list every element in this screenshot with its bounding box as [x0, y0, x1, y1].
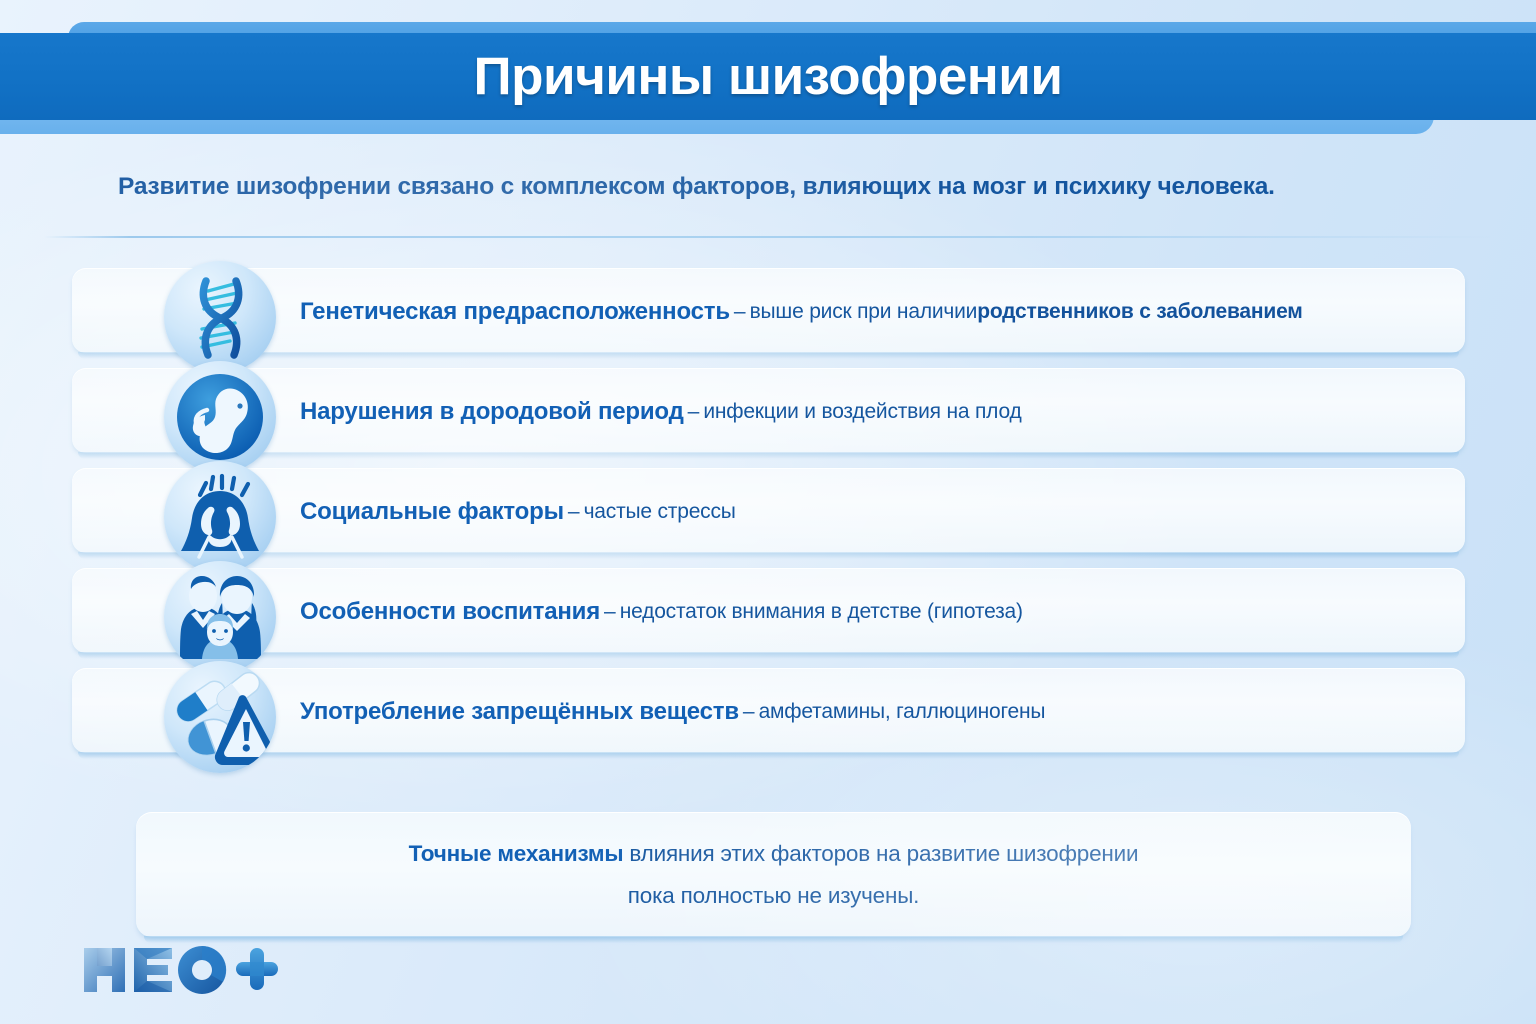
dna-helix-icon	[164, 261, 276, 373]
neo-plus-logo[interactable]	[80, 940, 280, 1000]
factor-description: недостаток внимания в детстве (гипотеза)	[620, 600, 1023, 624]
factor-dash: –	[600, 600, 620, 624]
conclusion-bold: Точные механизмы	[409, 841, 624, 866]
conclusion-line-1: Точные механизмы влияния этих факторов н…	[409, 841, 1139, 867]
factor-dash: –	[564, 500, 584, 524]
factor-dash: –	[684, 400, 704, 424]
pills-warning-icon	[164, 661, 276, 773]
family-icon	[164, 561, 276, 673]
list-item[interactable]: Употребление запрещённых веществ – амфет…	[0, 662, 1536, 762]
factor-description-emphasis: родственников с заболеванием	[977, 300, 1302, 324]
factor-list: Генетическая предрасположенность – выше …	[0, 262, 1536, 762]
infographic-page: Причины шизофрении Развитие шизофрении с…	[0, 0, 1536, 1024]
factor-card	[72, 468, 1465, 553]
factor-text: Особенности воспитания – недостаток вним…	[300, 562, 1023, 662]
conclusion-rest: влияния этих факторов на развитие шизофр…	[623, 841, 1138, 866]
list-item[interactable]: Нарушения в дородовой период – инфекции …	[0, 362, 1536, 462]
list-item[interactable]: Генетическая предрасположенность – выше …	[0, 262, 1536, 362]
intro-text: Развитие шизофрении связано с комплексом…	[118, 173, 1418, 201]
factor-description: частые стрессы	[584, 500, 736, 524]
list-item[interactable]: Особенности воспитания – недостаток вним…	[0, 562, 1536, 662]
page-title: Причины шизофрении	[474, 50, 1063, 103]
factor-title: Генетическая предрасположенность	[300, 298, 730, 326]
factor-description: выше риск при наличии	[750, 300, 978, 324]
conclusion-line-2: пока полностью не изучены.	[628, 883, 919, 909]
factor-text: Социальные факторы – частые стрессы	[300, 462, 736, 562]
fetus-icon	[164, 361, 276, 473]
header: Причины шизофрении	[0, 0, 1536, 140]
factor-title: Особенности воспитания	[300, 598, 600, 626]
intro-divider	[44, 236, 1492, 238]
factor-text: Генетическая предрасположенность – выше …	[300, 262, 1303, 362]
factor-text: Нарушения в дородовой период – инфекции …	[300, 362, 1022, 462]
factor-description: амфетамины, галлюциногены	[759, 700, 1046, 724]
factor-title: Употребление запрещённых веществ	[300, 698, 739, 726]
header-bar: Причины шизофрении	[0, 33, 1536, 120]
conclusion-box: Точные механизмы влияния этих факторов н…	[136, 812, 1411, 937]
factor-title: Нарушения в дородовой период	[300, 398, 684, 426]
stressed-person-icon	[164, 461, 276, 573]
factor-dash: –	[730, 300, 750, 324]
factor-text: Употребление запрещённых веществ – амфет…	[300, 662, 1045, 762]
factor-dash: –	[739, 700, 759, 724]
list-item[interactable]: Социальные факторы – частые стрессы	[0, 462, 1536, 562]
factor-title: Социальные факторы	[300, 498, 564, 526]
factor-description: инфекции и воздействия на плод	[703, 400, 1021, 424]
